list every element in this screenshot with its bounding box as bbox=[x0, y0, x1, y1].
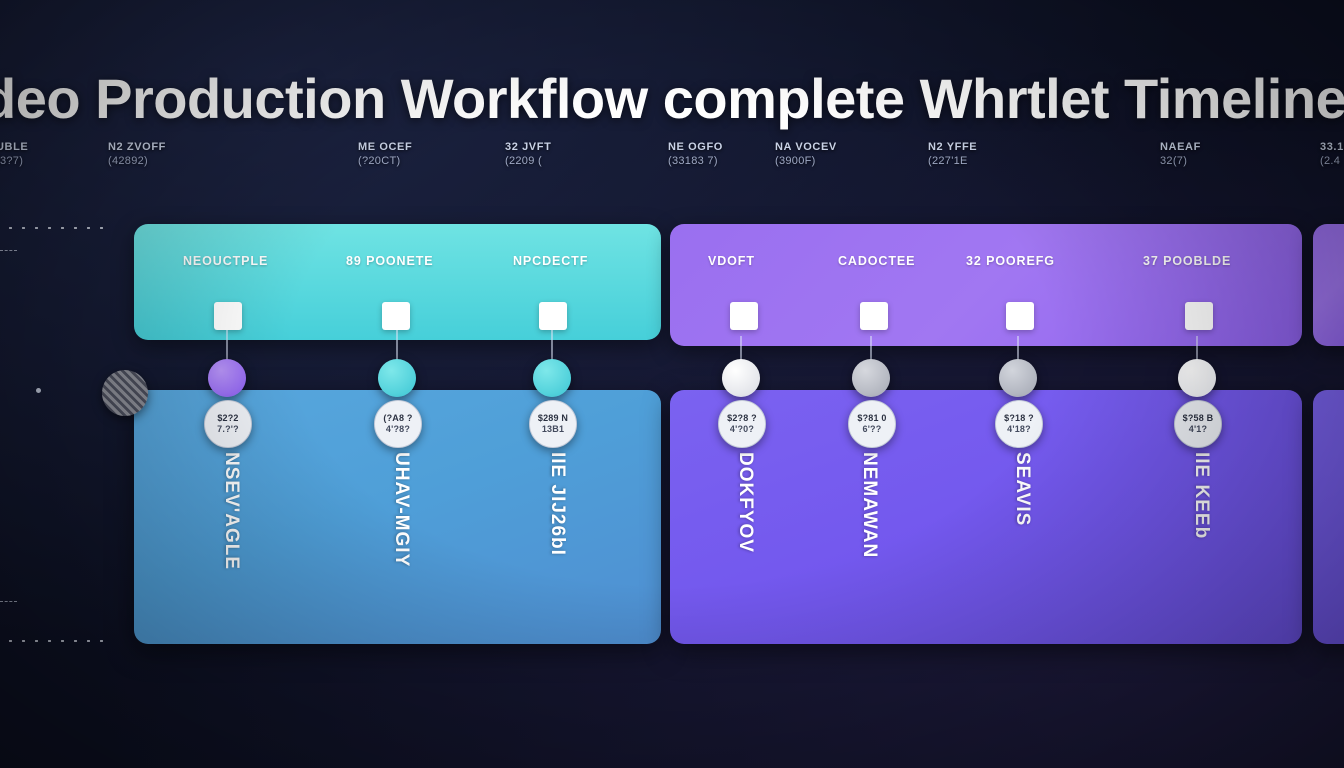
badge-line-2: 4'1? bbox=[1189, 424, 1207, 435]
group-label: CADOCTEE bbox=[838, 254, 915, 268]
badge-line-2: 4'?0? bbox=[730, 424, 754, 435]
task-badge[interactable]: $2?2 7.?'? bbox=[204, 400, 252, 448]
axis-tick: NAEAF 32(7) bbox=[1160, 140, 1201, 168]
group-chip-icon bbox=[730, 302, 758, 330]
badge-line-2: 13B1 bbox=[542, 424, 564, 435]
task-badge[interactable]: $?18 ? 4'18? bbox=[995, 400, 1043, 448]
axis-tick-label: NE OGFO bbox=[668, 141, 723, 153]
milestone-node-1[interactable] bbox=[208, 359, 246, 397]
axis-tick: ME OCEF (?20CT) bbox=[358, 140, 412, 168]
axis-tick: N2 YFFE (227'1E bbox=[928, 140, 977, 168]
group-chip-icon bbox=[214, 302, 242, 330]
badge-line-2: 4'18? bbox=[1007, 424, 1031, 435]
badge-line-1: $?18 ? bbox=[1004, 413, 1034, 424]
axis-tick-sublabel: (?20CT) bbox=[358, 154, 412, 168]
milestone-node-2[interactable] bbox=[378, 359, 416, 397]
group-chip-icon bbox=[382, 302, 410, 330]
group-chip-icon bbox=[1185, 302, 1213, 330]
task-badge[interactable]: $?81 0 6'?? bbox=[848, 400, 896, 448]
badge-line-2: 4'?8? bbox=[386, 424, 410, 435]
group-label: 37 POOBLDE bbox=[1143, 254, 1231, 268]
page-title: deo Production Workflow complete Whrtlet… bbox=[0, 66, 1344, 131]
axis-tick-sublabel: 32(7) bbox=[1160, 154, 1201, 168]
axis-tick: 33.1 (2.4 bbox=[1320, 140, 1344, 168]
axis-tick: N2 ZVOFF (42892) bbox=[108, 140, 166, 168]
axis-tick-label: 32 JVFT bbox=[505, 141, 551, 153]
group-bar-purple-edge[interactable] bbox=[1313, 224, 1344, 346]
axis-tick-sublabel: (2209 ( bbox=[505, 154, 551, 168]
axis-tick-label: NAEAF bbox=[1160, 141, 1201, 153]
task-badge[interactable]: $?58 B 4'1? bbox=[1174, 400, 1222, 448]
axis-tick-sublabel: (33183 7) bbox=[668, 154, 723, 168]
group-label: 89 POONETE bbox=[346, 254, 434, 268]
guide-dotted-line-bottom bbox=[4, 640, 112, 642]
axis-tick-sublabel: (3900F) bbox=[775, 154, 837, 168]
axis-tick: UBLE (3?7) bbox=[0, 140, 28, 168]
milestone-node-start[interactable] bbox=[102, 370, 148, 416]
group-bar-teal[interactable]: NEOUCTPLE 89 POONETE NPCDECTF bbox=[134, 224, 661, 340]
badge-line-2: 6'?? bbox=[863, 424, 882, 435]
group-chip-icon bbox=[1006, 302, 1034, 330]
badge-line-1: $289 N bbox=[538, 413, 568, 424]
guide-bracket bbox=[0, 250, 17, 602]
badge-line-2: 7.?'? bbox=[217, 424, 239, 435]
axis-tick-label: NA VOCEV bbox=[775, 141, 837, 153]
axis-tick-label: 33.1 bbox=[1320, 141, 1344, 153]
task-badge[interactable]: (?A8 ? 4'?8? bbox=[374, 400, 422, 448]
group-chip-icon bbox=[860, 302, 888, 330]
group-label: NEOUCTPLE bbox=[183, 254, 268, 268]
badge-line-1: $?81 0 bbox=[857, 413, 886, 424]
group-bar-purple[interactable]: VDOFT CADOCTEE 32 POOREFG 37 POOBLDE bbox=[670, 224, 1302, 346]
axis-tick-label: ME OCEF bbox=[358, 141, 412, 153]
task-label: IIE JIJ26bI bbox=[546, 452, 568, 556]
axis-tick-sublabel: (42892) bbox=[108, 154, 166, 168]
guide-dotted-line-top bbox=[4, 227, 112, 229]
axis-tick: 32 JVFT (2209 ( bbox=[505, 140, 551, 168]
timeline-axis: UBLE (3?7) N2 ZVOFF (42892) ME OCEF (?20… bbox=[0, 140, 1344, 180]
group-label: 32 POOREFG bbox=[966, 254, 1055, 268]
task-label: SEAVIS bbox=[1011, 452, 1033, 526]
task-label: NSEV'AGLE bbox=[220, 452, 242, 570]
axis-tick-sublabel: (3?7) bbox=[0, 154, 28, 168]
badge-line-1: $?58 B bbox=[1183, 413, 1214, 424]
axis-tick: NE OGFO (33183 7) bbox=[668, 140, 723, 168]
badge-line-1: $2?2 bbox=[217, 413, 238, 424]
axis-tick-sublabel: (2.4 bbox=[1320, 154, 1344, 168]
axis-tick-label: N2 ZVOFF bbox=[108, 141, 166, 153]
axis-tick-label: N2 YFFE bbox=[928, 141, 977, 153]
task-badge[interactable]: $289 N 13B1 bbox=[529, 400, 577, 448]
guide-bracket-dot bbox=[36, 388, 41, 393]
task-label: UHAV-MGIY bbox=[390, 452, 412, 567]
group-label: VDOFT bbox=[708, 254, 755, 268]
milestone-node-3[interactable] bbox=[533, 359, 571, 397]
task-badge[interactable]: $2?8 ? 4'?0? bbox=[718, 400, 766, 448]
diagram-canvas: deo Production Workflow complete Whrtlet… bbox=[0, 0, 1344, 768]
group-label: NPCDECTF bbox=[513, 254, 588, 268]
task-label: IIE KEEb bbox=[1190, 452, 1212, 539]
group-chip-icon bbox=[539, 302, 567, 330]
milestone-node-7[interactable] bbox=[1178, 359, 1216, 397]
milestone-node-5[interactable] bbox=[852, 359, 890, 397]
axis-tick: NA VOCEV (3900F) bbox=[775, 140, 837, 168]
axis-tick-sublabel: (227'1E bbox=[928, 154, 977, 168]
task-bar-violet-edge[interactable] bbox=[1313, 390, 1344, 644]
badge-line-1: $2?8 ? bbox=[727, 413, 757, 424]
axis-tick-label: UBLE bbox=[0, 141, 28, 153]
task-label: NEMAWAN bbox=[858, 452, 880, 558]
task-label: DOKFYOV bbox=[734, 452, 756, 553]
badge-line-1: (?A8 ? bbox=[383, 413, 412, 424]
milestone-node-4[interactable] bbox=[722, 359, 760, 397]
milestone-node-6[interactable] bbox=[999, 359, 1037, 397]
